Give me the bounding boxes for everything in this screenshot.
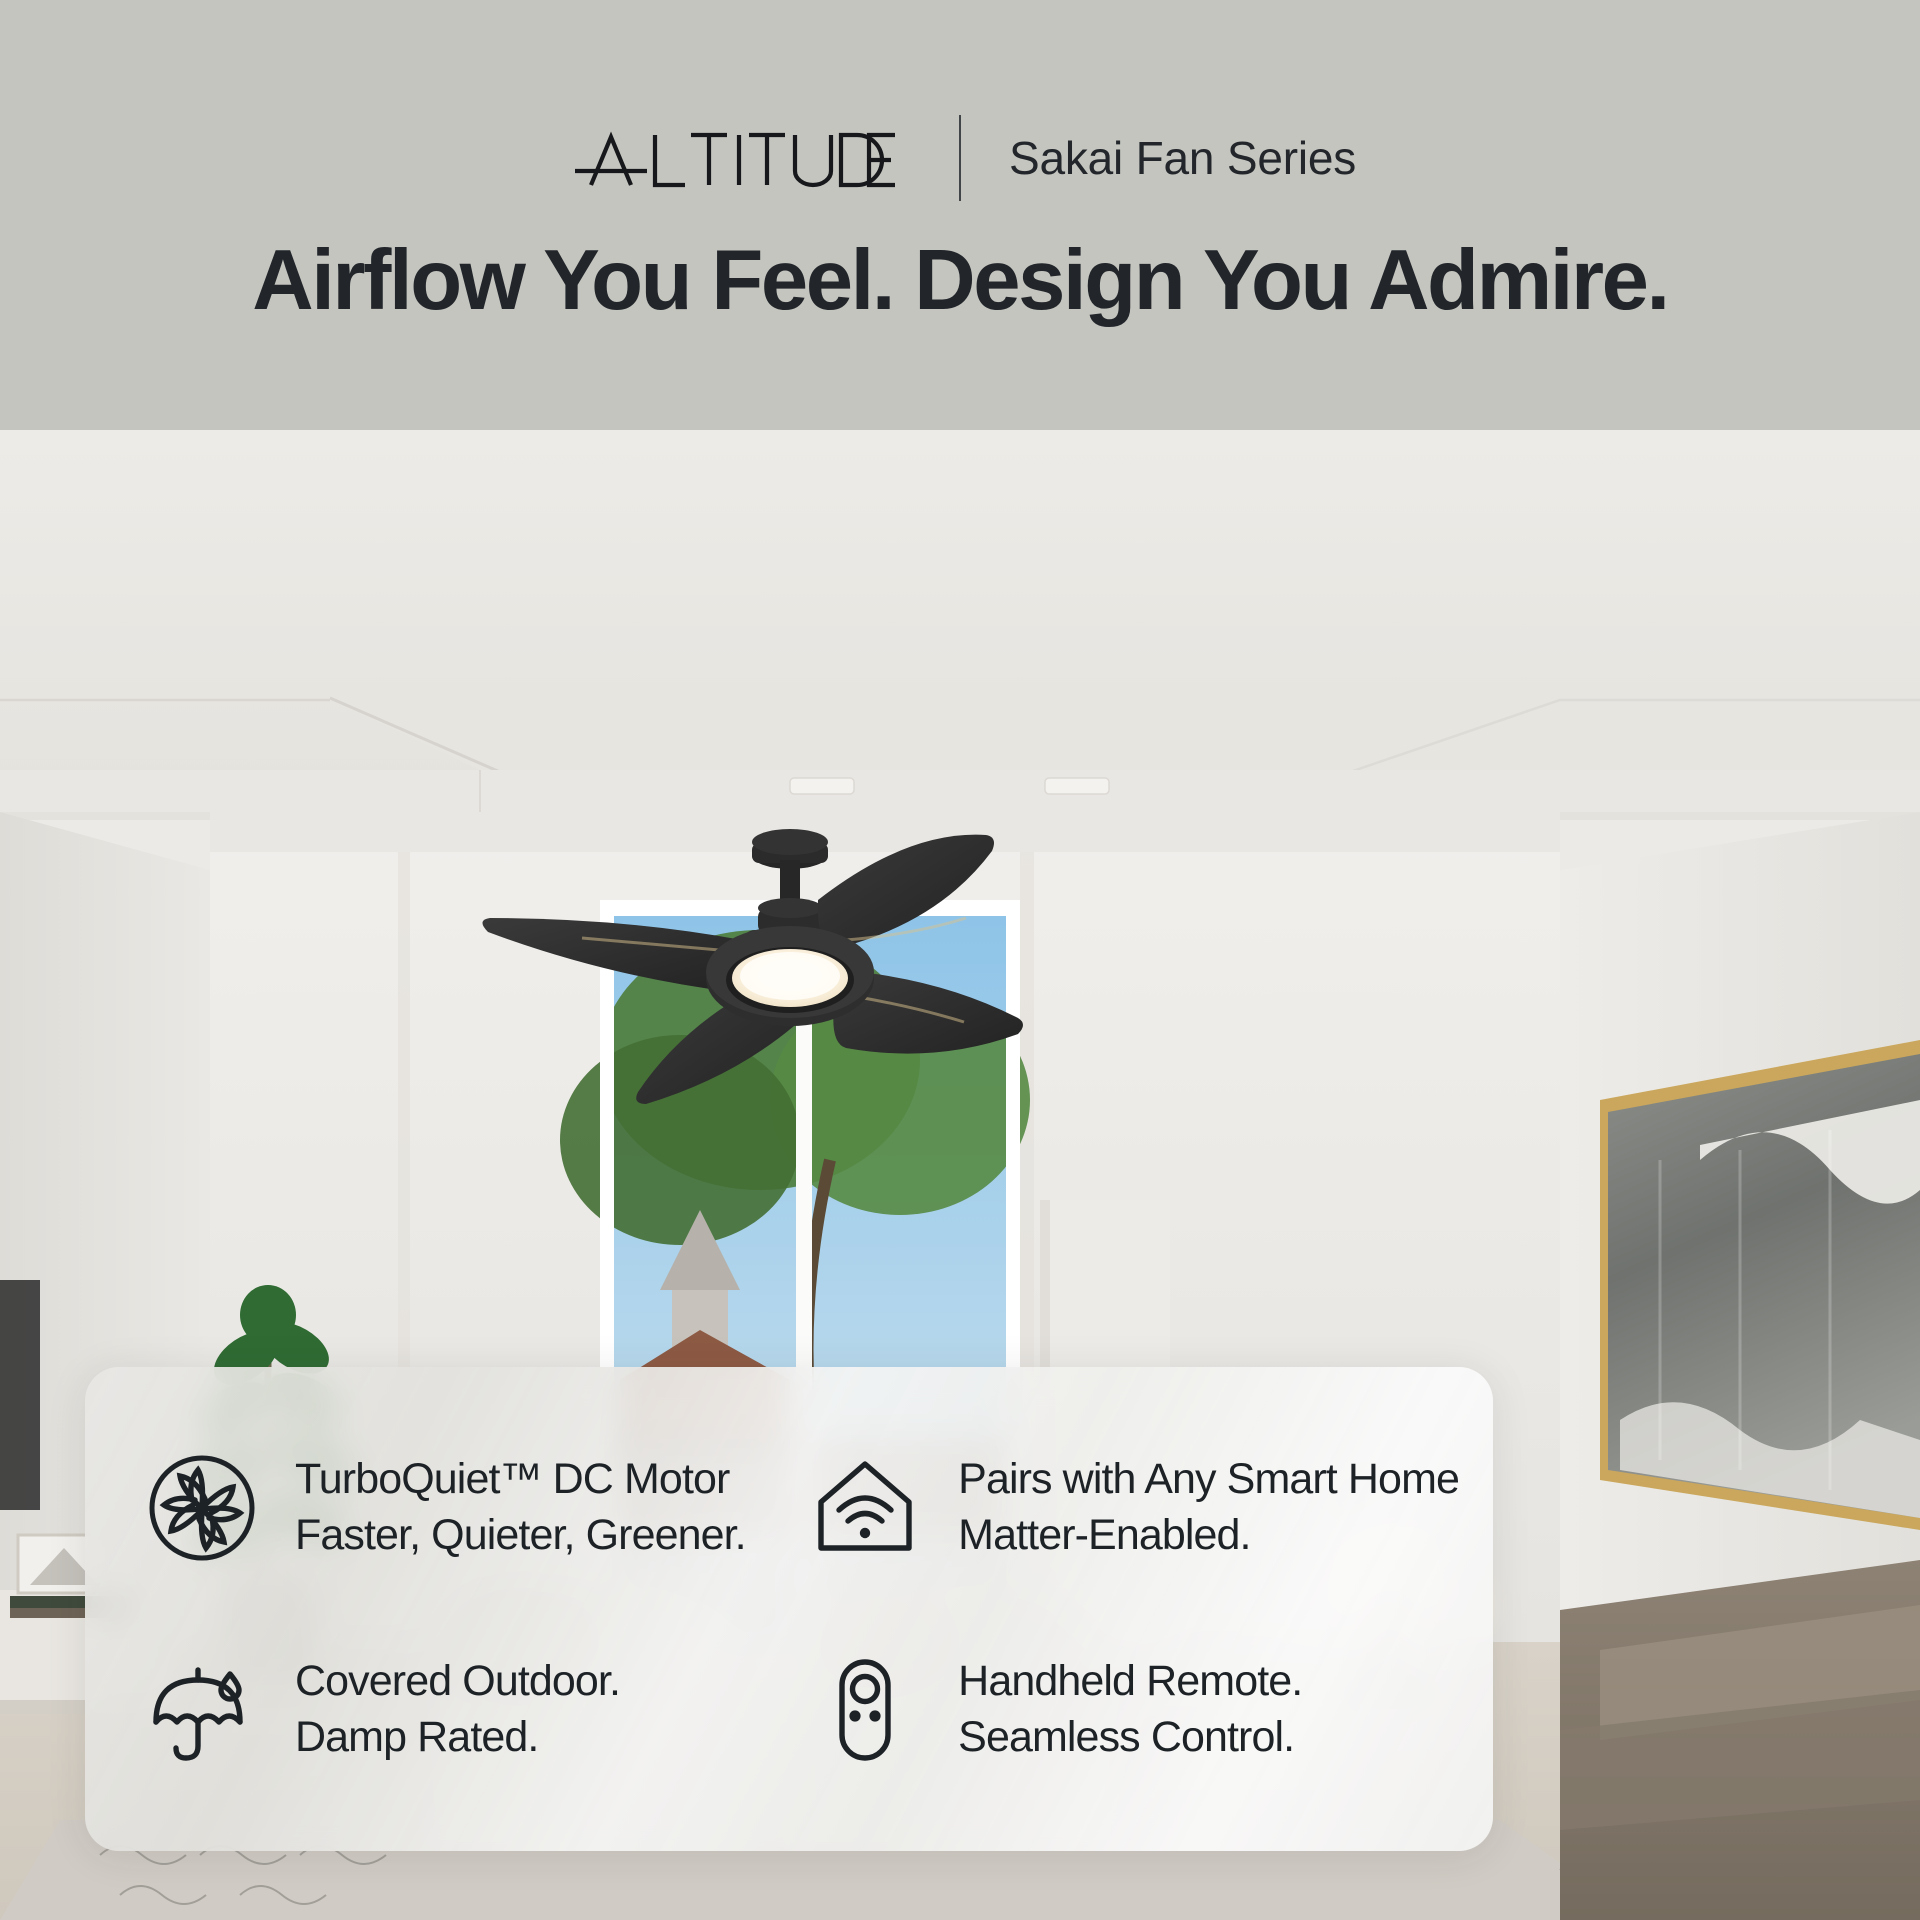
brand-row: Sakai Fan Series	[0, 118, 1920, 198]
handheld-remote-icon	[806, 1651, 924, 1769]
feature-card: TurboQuiet™ DC Motor Faster, Quieter, Gr…	[85, 1367, 1493, 1851]
umbrella-damp-rated-icon	[143, 1651, 261, 1769]
turbo-fan-motor-icon	[143, 1449, 261, 1567]
feature-text: Handheld Remote. Seamless Control.	[958, 1654, 1302, 1766]
altitude-a-logo-icon	[573, 123, 903, 193]
page-headline: Airflow You Feel. Design You Admire.	[0, 232, 1920, 330]
feature-line-2: Seamless Control.	[958, 1710, 1302, 1766]
sofa	[1560, 1560, 1920, 1920]
vertical-divider-icon	[959, 115, 961, 201]
brand-logo	[541, 123, 911, 193]
feature-handheld-remote: Handheld Remote. Seamless Control.	[774, 1609, 1459, 1811]
feature-line-2: Matter-Enabled.	[958, 1508, 1459, 1564]
feature-line-1: Pairs with Any Smart Home	[958, 1455, 1459, 1503]
feature-line-2: Faster, Quieter, Greener.	[295, 1508, 746, 1564]
feature-text: Pairs with Any Smart Home Matter-Enabled…	[958, 1452, 1459, 1564]
feature-turboquiet-motor: TurboQuiet™ DC Motor Faster, Quieter, Gr…	[143, 1407, 774, 1609]
feature-line-1: Covered Outdoor.	[295, 1657, 620, 1705]
feature-line-1: Handheld Remote.	[958, 1657, 1302, 1705]
series-name: Sakai Fan Series	[1009, 131, 1379, 185]
feature-damp-rated: Covered Outdoor. Damp Rated.	[143, 1609, 774, 1811]
smart-home-wifi-icon	[806, 1449, 924, 1567]
feature-line-2: Damp Rated.	[295, 1710, 620, 1766]
feature-smart-home: Pairs with Any Smart Home Matter-Enabled…	[774, 1407, 1459, 1609]
feature-text: TurboQuiet™ DC Motor Faster, Quieter, Gr…	[295, 1452, 746, 1564]
feature-text: Covered Outdoor. Damp Rated.	[295, 1654, 620, 1766]
header-band: Sakai Fan Series Airflow You Feel. Desig…	[0, 0, 1920, 430]
wall-artwork	[1600, 1040, 1920, 1530]
feature-line-1: TurboQuiet™ DC Motor	[295, 1455, 729, 1503]
